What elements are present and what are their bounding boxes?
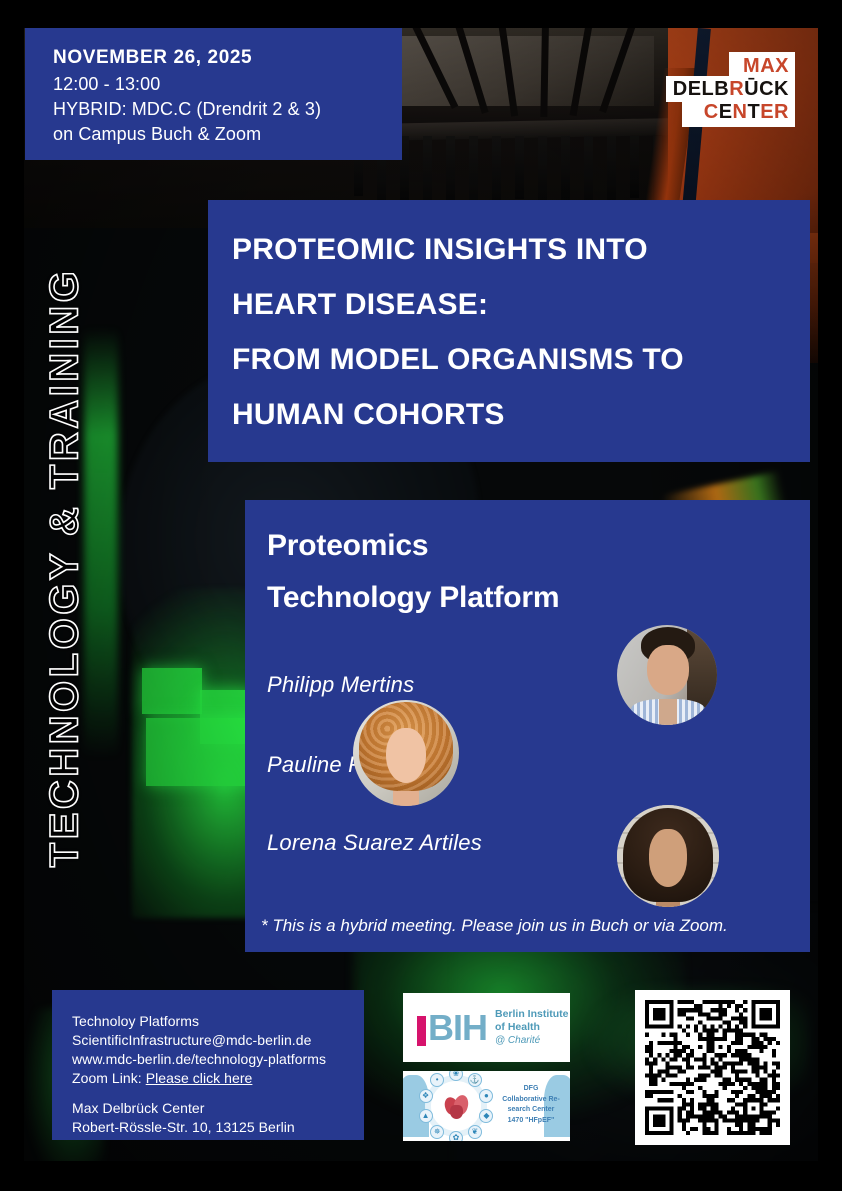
mdc-logo-er: ER (760, 101, 789, 123)
event-campus: on Campus Buch & Zoom (53, 122, 402, 147)
platform-name-line-2: Technology Platform (267, 572, 810, 624)
contact-email[interactable]: ScientificInfrastructure@mdc-berlin.de (72, 1031, 364, 1050)
speaker-name-philipp-mertins: Philipp Mertins (267, 672, 414, 698)
contact-panel: Technoloy Platforms ScientificInfrastruc… (52, 990, 364, 1140)
event-time: 12:00 - 13:00 (53, 72, 402, 97)
crc-organ-node: ▲ (419, 1109, 433, 1123)
event-location: HYBRID: MDC.C (Drendrit 2 & 3) (53, 97, 402, 122)
contact-center-name: Max Delbrück Center (72, 1099, 364, 1118)
bih-subtitle: Berlin Institute of Health @ Charité (495, 1008, 569, 1047)
heart-apex (450, 1105, 463, 1119)
hybrid-meeting-note: * This is a hybrid meeting. Please join … (261, 916, 728, 936)
avatar-philipp-mertins (617, 625, 717, 725)
avatar-pauline-fahjen (353, 700, 459, 806)
crc-caption-line-1: DFG (499, 1084, 563, 1095)
crc-caption-line-4: 1470 "HFpEF" (499, 1116, 563, 1127)
avatar-face (649, 829, 688, 886)
contact-zoom-row: Zoom Link: Please click here (72, 1069, 364, 1088)
dfg-crc-logo: ❀⚓●◆❦✿✵▲❖• DFG Collaborative Re- search … (403, 1071, 570, 1141)
avatar-face (647, 645, 689, 695)
title-line-4: HUMAN COHORTS (232, 387, 792, 442)
bih-subtitle-line-3: @ Charité (495, 1034, 569, 1047)
avatar-face (386, 728, 426, 783)
crc-organ-node: ❦ (468, 1125, 482, 1139)
crc-organ-node: ⚓ (468, 1073, 482, 1087)
bih-logo: BIH Berlin Institute of Health @ Charité (403, 993, 570, 1062)
crc-organ-node: ❖ (419, 1089, 433, 1103)
crc-organ-node: ◆ (479, 1109, 493, 1123)
bih-subtitle-line-2: of Health (495, 1021, 569, 1034)
avatar-lorena-suarez-artiles (617, 805, 719, 907)
bih-accent-bar (417, 1016, 426, 1046)
mdc-logo-uck: ŪCK (744, 78, 789, 100)
mdc-logo-r: R (729, 78, 744, 100)
platform-name-line-1: Proteomics (267, 520, 810, 572)
bih-subtitle-line-1: Berlin Institute (495, 1008, 569, 1021)
crc-organ-node: ✵ (430, 1125, 444, 1139)
qr-code-canvas[interactable] (645, 1000, 780, 1135)
event-info-panel: NOVEMBER 26, 2025 12:00 - 13:00 HYBRID: … (25, 28, 402, 160)
talk-title-panel: PROTEOMIC INSIGHTS INTO HEART DISEASE: F… (208, 200, 810, 462)
series-vertical-label: TECHNOLOGY & TRAINING (43, 258, 88, 878)
contact-spacer (72, 1088, 364, 1099)
mdc-logo-e: E (719, 101, 733, 123)
contact-website[interactable]: www.mdc-berlin.de/technology-platforms (72, 1050, 364, 1069)
mdc-logo-line-max: MAX (729, 52, 795, 78)
crc-caption-line-2: Collaborative Re- (499, 1095, 563, 1106)
avatar-shirt (631, 699, 705, 725)
title-line-3: FROM MODEL ORGANISMS TO (232, 332, 792, 387)
heart-icon (445, 1093, 469, 1119)
bih-wordmark: BIH (428, 1010, 487, 1046)
mdc-logo-c: C (704, 101, 719, 123)
crc-caption: DFG Collaborative Re- search Center 1470… (499, 1084, 563, 1126)
qr-code[interactable] (635, 990, 790, 1145)
contact-address: Robert-Rössle-Str. 10, 13125 Berlin (72, 1118, 364, 1137)
mdc-logo-line-center: CENTER (682, 100, 795, 127)
title-line-2: HEART DISEASE: (232, 277, 792, 332)
crc-organ-node: ✿ (449, 1131, 463, 1141)
speaker-name-lorena-suarez-artiles: Lorena Suarez Artiles (267, 830, 482, 856)
platform-speakers-panel: Proteomics Technology Platform Philipp M… (245, 500, 810, 952)
mdc-logo: MAX DELBRŪCK CENTER (690, 52, 795, 125)
contact-department: Technoloy Platforms (72, 1012, 364, 1031)
event-date: NOVEMBER 26, 2025 (53, 44, 402, 72)
mdc-logo-delb: DELB (673, 78, 729, 100)
crc-caption-line-3: search Center (499, 1105, 563, 1116)
crc-organ-node: ● (479, 1089, 493, 1103)
mdc-logo-line-delbrueck: DELBRŪCK (666, 76, 795, 102)
mdc-logo-t: T (747, 101, 760, 123)
zoom-link[interactable]: Please click here (146, 1070, 253, 1086)
poster-canvas: NOVEMBER 26, 2025 12:00 - 13:00 HYBRID: … (0, 0, 842, 1191)
zoom-link-label: Zoom Link: (72, 1070, 142, 1086)
title-line-1: PROTEOMIC INSIGHTS INTO (232, 222, 792, 277)
mdc-logo-n: N (733, 101, 748, 123)
